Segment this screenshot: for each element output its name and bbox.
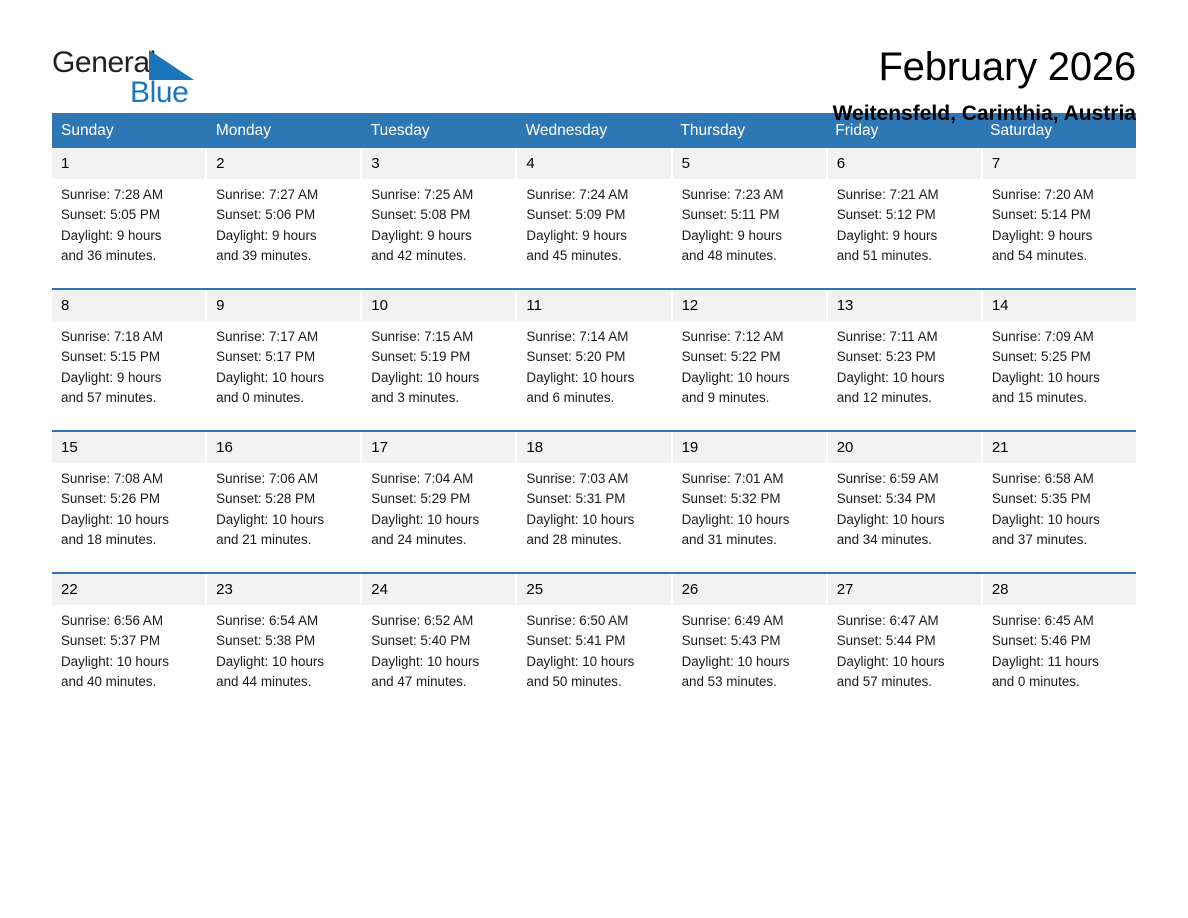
day-details: Sunrise: 6:59 AM Sunset: 5:34 PM Dayligh… bbox=[828, 463, 981, 551]
sunset-text: Sunset: 5:11 PM bbox=[682, 205, 818, 225]
day-number: 1 bbox=[52, 148, 205, 179]
sunset-text: Sunset: 5:40 PM bbox=[371, 631, 507, 651]
daylight-text-line2: and 57 minutes. bbox=[837, 672, 973, 692]
day-number: 21 bbox=[983, 432, 1136, 463]
sunrise-text: Sunrise: 7:23 AM bbox=[682, 185, 818, 205]
sunset-text: Sunset: 5:09 PM bbox=[526, 205, 662, 225]
day-details: Sunrise: 7:15 AM Sunset: 5:19 PM Dayligh… bbox=[362, 321, 515, 409]
day-number: 17 bbox=[362, 432, 515, 463]
day-cell[interactable]: 15 Sunrise: 7:08 AM Sunset: 5:26 PM Dayl… bbox=[52, 432, 205, 556]
day-cell[interactable]: 14 Sunrise: 7:09 AM Sunset: 5:25 PM Dayl… bbox=[983, 290, 1136, 414]
daylight-text-line1: Daylight: 9 hours bbox=[216, 226, 352, 246]
daylight-text-line1: Daylight: 9 hours bbox=[992, 226, 1128, 246]
day-number: 6 bbox=[828, 148, 981, 179]
day-details: Sunrise: 7:14 AM Sunset: 5:20 PM Dayligh… bbox=[517, 321, 670, 409]
day-cell[interactable]: 17 Sunrise: 7:04 AM Sunset: 5:29 PM Dayl… bbox=[362, 432, 515, 556]
day-cell[interactable]: 18 Sunrise: 7:03 AM Sunset: 5:31 PM Dayl… bbox=[517, 432, 670, 556]
day-cell[interactable]: 3 Sunrise: 7:25 AM Sunset: 5:08 PM Dayli… bbox=[362, 148, 515, 272]
sunset-text: Sunset: 5:15 PM bbox=[61, 347, 197, 367]
day-number: 3 bbox=[362, 148, 515, 179]
day-details: Sunrise: 6:56 AM Sunset: 5:37 PM Dayligh… bbox=[52, 605, 205, 693]
daylight-text-line2: and 50 minutes. bbox=[526, 672, 662, 692]
sunset-text: Sunset: 5:29 PM bbox=[371, 489, 507, 509]
day-details: Sunrise: 7:06 AM Sunset: 5:28 PM Dayligh… bbox=[207, 463, 360, 551]
day-details: Sunrise: 7:28 AM Sunset: 5:05 PM Dayligh… bbox=[52, 179, 205, 267]
logo-text-blue: Blue bbox=[130, 78, 188, 108]
day-number: 24 bbox=[362, 574, 515, 605]
sunset-text: Sunset: 5:17 PM bbox=[216, 347, 352, 367]
sunrise-text: Sunrise: 7:25 AM bbox=[371, 185, 507, 205]
sunset-text: Sunset: 5:12 PM bbox=[837, 205, 973, 225]
sunset-text: Sunset: 5:31 PM bbox=[526, 489, 662, 509]
sunset-text: Sunset: 5:37 PM bbox=[61, 631, 197, 651]
daylight-text-line2: and 6 minutes. bbox=[526, 388, 662, 408]
day-number: 18 bbox=[517, 432, 670, 463]
daylight-text-line2: and 53 minutes. bbox=[682, 672, 818, 692]
day-number: 15 bbox=[52, 432, 205, 463]
daylight-text-line2: and 0 minutes. bbox=[216, 388, 352, 408]
day-cell[interactable]: 6 Sunrise: 7:21 AM Sunset: 5:12 PM Dayli… bbox=[828, 148, 981, 272]
day-cell[interactable]: 8 Sunrise: 7:18 AM Sunset: 5:15 PM Dayli… bbox=[52, 290, 205, 414]
daylight-text-line2: and 42 minutes. bbox=[371, 246, 507, 266]
sunrise-text: Sunrise: 7:20 AM bbox=[992, 185, 1128, 205]
day-details: Sunrise: 7:23 AM Sunset: 5:11 PM Dayligh… bbox=[673, 179, 826, 267]
sunset-text: Sunset: 5:20 PM bbox=[526, 347, 662, 367]
day-number: 13 bbox=[828, 290, 981, 321]
sunset-text: Sunset: 5:43 PM bbox=[682, 631, 818, 651]
day-cell[interactable]: 24 Sunrise: 6:52 AM Sunset: 5:40 PM Dayl… bbox=[362, 574, 515, 698]
sunrise-text: Sunrise: 7:15 AM bbox=[371, 327, 507, 347]
day-cell[interactable]: 19 Sunrise: 7:01 AM Sunset: 5:32 PM Dayl… bbox=[673, 432, 826, 556]
sunrise-text: Sunrise: 7:28 AM bbox=[61, 185, 197, 205]
day-details: Sunrise: 6:58 AM Sunset: 5:35 PM Dayligh… bbox=[983, 463, 1136, 551]
sunset-text: Sunset: 5:46 PM bbox=[992, 631, 1128, 651]
daylight-text-line2: and 34 minutes. bbox=[837, 530, 973, 550]
sunset-text: Sunset: 5:23 PM bbox=[837, 347, 973, 367]
page-title: February 2026 bbox=[202, 46, 1136, 88]
sunset-text: Sunset: 5:26 PM bbox=[61, 489, 197, 509]
day-cell[interactable]: 28 Sunrise: 6:45 AM Sunset: 5:46 PM Dayl… bbox=[983, 574, 1136, 698]
weekday-header-friday: Friday bbox=[826, 113, 981, 148]
day-details: Sunrise: 6:50 AM Sunset: 5:41 PM Dayligh… bbox=[517, 605, 670, 693]
sunrise-text: Sunrise: 7:11 AM bbox=[837, 327, 973, 347]
day-details: Sunrise: 6:45 AM Sunset: 5:46 PM Dayligh… bbox=[983, 605, 1136, 693]
day-details: Sunrise: 6:47 AM Sunset: 5:44 PM Dayligh… bbox=[828, 605, 981, 693]
daylight-text-line2: and 31 minutes. bbox=[682, 530, 818, 550]
daylight-text-line2: and 21 minutes. bbox=[216, 530, 352, 550]
day-cell[interactable]: 22 Sunrise: 6:56 AM Sunset: 5:37 PM Dayl… bbox=[52, 574, 205, 698]
day-number: 14 bbox=[983, 290, 1136, 321]
day-cell[interactable]: 27 Sunrise: 6:47 AM Sunset: 5:44 PM Dayl… bbox=[828, 574, 981, 698]
sunrise-text: Sunrise: 7:09 AM bbox=[992, 327, 1128, 347]
day-number: 19 bbox=[673, 432, 826, 463]
day-number: 11 bbox=[517, 290, 670, 321]
daylight-text-line2: and 24 minutes. bbox=[371, 530, 507, 550]
daylight-text-line2: and 28 minutes. bbox=[526, 530, 662, 550]
daylight-text-line1: Daylight: 11 hours bbox=[992, 652, 1128, 672]
day-number: 9 bbox=[207, 290, 360, 321]
daylight-text-line2: and 47 minutes. bbox=[371, 672, 507, 692]
weekday-header-row: Sunday Monday Tuesday Wednesday Thursday… bbox=[52, 113, 1136, 148]
generalblue-logo[interactable]: General Blue bbox=[52, 46, 202, 116]
day-details: Sunrise: 7:03 AM Sunset: 5:31 PM Dayligh… bbox=[517, 463, 670, 551]
sunrise-text: Sunrise: 6:58 AM bbox=[992, 469, 1128, 489]
daylight-text-line1: Daylight: 10 hours bbox=[61, 652, 197, 672]
sunrise-text: Sunrise: 7:21 AM bbox=[837, 185, 973, 205]
day-cell[interactable]: 23 Sunrise: 6:54 AM Sunset: 5:38 PM Dayl… bbox=[207, 574, 360, 698]
day-cell[interactable]: 20 Sunrise: 6:59 AM Sunset: 5:34 PM Dayl… bbox=[828, 432, 981, 556]
day-cell[interactable]: 4 Sunrise: 7:24 AM Sunset: 5:09 PM Dayli… bbox=[517, 148, 670, 272]
weekday-header-thursday: Thursday bbox=[671, 113, 826, 148]
week-row: 8 Sunrise: 7:18 AM Sunset: 5:15 PM Dayli… bbox=[52, 288, 1136, 414]
day-number: 2 bbox=[207, 148, 360, 179]
day-details: Sunrise: 7:01 AM Sunset: 5:32 PM Dayligh… bbox=[673, 463, 826, 551]
sunset-text: Sunset: 5:14 PM bbox=[992, 205, 1128, 225]
day-cell[interactable]: 21 Sunrise: 6:58 AM Sunset: 5:35 PM Dayl… bbox=[983, 432, 1136, 556]
sunset-text: Sunset: 5:19 PM bbox=[371, 347, 507, 367]
sunrise-text: Sunrise: 6:59 AM bbox=[837, 469, 973, 489]
daylight-text-line1: Daylight: 10 hours bbox=[371, 368, 507, 388]
day-details: Sunrise: 7:20 AM Sunset: 5:14 PM Dayligh… bbox=[983, 179, 1136, 267]
daylight-text-line1: Daylight: 10 hours bbox=[216, 510, 352, 530]
daylight-text-line1: Daylight: 10 hours bbox=[682, 510, 818, 530]
daylight-text-line2: and 39 minutes. bbox=[216, 246, 352, 266]
day-details: Sunrise: 6:52 AM Sunset: 5:40 PM Dayligh… bbox=[362, 605, 515, 693]
sunrise-text: Sunrise: 6:45 AM bbox=[992, 611, 1128, 631]
day-details: Sunrise: 6:49 AM Sunset: 5:43 PM Dayligh… bbox=[673, 605, 826, 693]
day-cell[interactable]: 1 Sunrise: 7:28 AM Sunset: 5:05 PM Dayli… bbox=[52, 148, 205, 272]
sunrise-text: Sunrise: 6:50 AM bbox=[526, 611, 662, 631]
sunrise-text: Sunrise: 7:17 AM bbox=[216, 327, 352, 347]
day-details: Sunrise: 7:12 AM Sunset: 5:22 PM Dayligh… bbox=[673, 321, 826, 409]
daylight-text-line2: and 57 minutes. bbox=[61, 388, 197, 408]
weekday-header-monday: Monday bbox=[207, 113, 362, 148]
day-cell[interactable]: 11 Sunrise: 7:14 AM Sunset: 5:20 PM Dayl… bbox=[517, 290, 670, 414]
sunrise-text: Sunrise: 7:08 AM bbox=[61, 469, 197, 489]
daylight-text-line2: and 9 minutes. bbox=[682, 388, 818, 408]
day-number: 20 bbox=[828, 432, 981, 463]
sunset-text: Sunset: 5:22 PM bbox=[682, 347, 818, 367]
daylight-text-line2: and 45 minutes. bbox=[526, 246, 662, 266]
daylight-text-line1: Daylight: 10 hours bbox=[837, 652, 973, 672]
daylight-text-line2: and 54 minutes. bbox=[992, 246, 1128, 266]
sunset-text: Sunset: 5:28 PM bbox=[216, 489, 352, 509]
daylight-text-line1: Daylight: 9 hours bbox=[61, 226, 197, 246]
day-cell[interactable]: 13 Sunrise: 7:11 AM Sunset: 5:23 PM Dayl… bbox=[828, 290, 981, 414]
sunset-text: Sunset: 5:44 PM bbox=[837, 631, 973, 651]
daylight-text-line2: and 15 minutes. bbox=[992, 388, 1128, 408]
day-cell[interactable]: 9 Sunrise: 7:17 AM Sunset: 5:17 PM Dayli… bbox=[207, 290, 360, 414]
daylight-text-line1: Daylight: 9 hours bbox=[682, 226, 818, 246]
day-number: 28 bbox=[983, 574, 1136, 605]
weekday-header-saturday: Saturday bbox=[981, 113, 1136, 148]
daylight-text-line1: Daylight: 10 hours bbox=[216, 368, 352, 388]
day-details: Sunrise: 7:17 AM Sunset: 5:17 PM Dayligh… bbox=[207, 321, 360, 409]
day-cell[interactable]: 10 Sunrise: 7:15 AM Sunset: 5:19 PM Dayl… bbox=[362, 290, 515, 414]
daylight-text-line1: Daylight: 10 hours bbox=[992, 510, 1128, 530]
daylight-text-line2: and 12 minutes. bbox=[837, 388, 973, 408]
week-row: 15 Sunrise: 7:08 AM Sunset: 5:26 PM Dayl… bbox=[52, 430, 1136, 556]
daylight-text-line1: Daylight: 10 hours bbox=[216, 652, 352, 672]
page-header: General Blue February 2026 Weitensfeld, … bbox=[52, 0, 1136, 92]
sunrise-text: Sunrise: 7:24 AM bbox=[526, 185, 662, 205]
daylight-text-line1: Daylight: 10 hours bbox=[371, 510, 507, 530]
day-details: Sunrise: 7:25 AM Sunset: 5:08 PM Dayligh… bbox=[362, 179, 515, 267]
week-row: 1 Sunrise: 7:28 AM Sunset: 5:05 PM Dayli… bbox=[52, 148, 1136, 272]
day-number: 22 bbox=[52, 574, 205, 605]
weekday-header-sunday: Sunday bbox=[52, 113, 207, 148]
sunset-text: Sunset: 5:08 PM bbox=[371, 205, 507, 225]
day-number: 7 bbox=[983, 148, 1136, 179]
day-details: Sunrise: 6:54 AM Sunset: 5:38 PM Dayligh… bbox=[207, 605, 360, 693]
day-cell[interactable]: 2 Sunrise: 7:27 AM Sunset: 5:06 PM Dayli… bbox=[207, 148, 360, 272]
sunset-text: Sunset: 5:05 PM bbox=[61, 205, 197, 225]
sunrise-text: Sunrise: 7:18 AM bbox=[61, 327, 197, 347]
day-number: 8 bbox=[52, 290, 205, 321]
daylight-text-line2: and 18 minutes. bbox=[61, 530, 197, 550]
sunrise-text: Sunrise: 7:06 AM bbox=[216, 469, 352, 489]
sunset-text: Sunset: 5:32 PM bbox=[682, 489, 818, 509]
day-details: Sunrise: 7:08 AM Sunset: 5:26 PM Dayligh… bbox=[52, 463, 205, 551]
sunrise-text: Sunrise: 7:04 AM bbox=[371, 469, 507, 489]
daylight-text-line1: Daylight: 9 hours bbox=[837, 226, 973, 246]
day-cell[interactable]: 12 Sunrise: 7:12 AM Sunset: 5:22 PM Dayl… bbox=[673, 290, 826, 414]
daylight-text-line2: and 48 minutes. bbox=[682, 246, 818, 266]
sunrise-text: Sunrise: 6:54 AM bbox=[216, 611, 352, 631]
daylight-text-line1: Daylight: 10 hours bbox=[61, 510, 197, 530]
daylight-text-line2: and 40 minutes. bbox=[61, 672, 197, 692]
daylight-text-line2: and 37 minutes. bbox=[992, 530, 1128, 550]
sunset-text: Sunset: 5:38 PM bbox=[216, 631, 352, 651]
weekday-header-wednesday: Wednesday bbox=[517, 113, 672, 148]
daylight-text-line2: and 36 minutes. bbox=[61, 246, 197, 266]
sunrise-text: Sunrise: 7:14 AM bbox=[526, 327, 662, 347]
day-number: 4 bbox=[517, 148, 670, 179]
day-details: Sunrise: 7:18 AM Sunset: 5:15 PM Dayligh… bbox=[52, 321, 205, 409]
daylight-text-line1: Daylight: 10 hours bbox=[526, 368, 662, 388]
day-number: 16 bbox=[207, 432, 360, 463]
day-number: 12 bbox=[673, 290, 826, 321]
daylight-text-line1: Daylight: 10 hours bbox=[837, 510, 973, 530]
day-details: Sunrise: 7:27 AM Sunset: 5:06 PM Dayligh… bbox=[207, 179, 360, 267]
day-cell[interactable]: 25 Sunrise: 6:50 AM Sunset: 5:41 PM Dayl… bbox=[517, 574, 670, 698]
daylight-text-line1: Daylight: 10 hours bbox=[992, 368, 1128, 388]
sunset-text: Sunset: 5:06 PM bbox=[216, 205, 352, 225]
sunset-text: Sunset: 5:35 PM bbox=[992, 489, 1128, 509]
day-details: Sunrise: 7:09 AM Sunset: 5:25 PM Dayligh… bbox=[983, 321, 1136, 409]
daylight-text-line1: Daylight: 9 hours bbox=[526, 226, 662, 246]
sunrise-text: Sunrise: 6:52 AM bbox=[371, 611, 507, 631]
daylight-text-line1: Daylight: 10 hours bbox=[526, 510, 662, 530]
daylight-text-line1: Daylight: 10 hours bbox=[526, 652, 662, 672]
calendar-grid: Sunday Monday Tuesday Wednesday Thursday… bbox=[52, 113, 1136, 698]
day-details: Sunrise: 7:21 AM Sunset: 5:12 PM Dayligh… bbox=[828, 179, 981, 267]
sunrise-text: Sunrise: 7:12 AM bbox=[682, 327, 818, 347]
daylight-text-line1: Daylight: 9 hours bbox=[371, 226, 507, 246]
week-row: 22 Sunrise: 6:56 AM Sunset: 5:37 PM Dayl… bbox=[52, 572, 1136, 698]
sunrise-text: Sunrise: 6:56 AM bbox=[61, 611, 197, 631]
day-details: Sunrise: 7:11 AM Sunset: 5:23 PM Dayligh… bbox=[828, 321, 981, 409]
sunrise-text: Sunrise: 7:01 AM bbox=[682, 469, 818, 489]
day-number: 23 bbox=[207, 574, 360, 605]
day-number: 5 bbox=[673, 148, 826, 179]
daylight-text-line1: Daylight: 9 hours bbox=[61, 368, 197, 388]
daylight-text-line2: and 3 minutes. bbox=[371, 388, 507, 408]
day-details: Sunrise: 7:04 AM Sunset: 5:29 PM Dayligh… bbox=[362, 463, 515, 551]
daylight-text-line1: Daylight: 10 hours bbox=[371, 652, 507, 672]
sunrise-text: Sunrise: 7:27 AM bbox=[216, 185, 352, 205]
day-cell[interactable]: 7 Sunrise: 7:20 AM Sunset: 5:14 PM Dayli… bbox=[983, 148, 1136, 272]
daylight-text-line2: and 44 minutes. bbox=[216, 672, 352, 692]
day-number: 26 bbox=[673, 574, 826, 605]
day-number: 10 bbox=[362, 290, 515, 321]
daylight-text-line1: Daylight: 10 hours bbox=[682, 652, 818, 672]
day-cell[interactable]: 26 Sunrise: 6:49 AM Sunset: 5:43 PM Dayl… bbox=[673, 574, 826, 698]
sunrise-text: Sunrise: 7:03 AM bbox=[526, 469, 662, 489]
weekday-header-tuesday: Tuesday bbox=[362, 113, 517, 148]
day-cell[interactable]: 16 Sunrise: 7:06 AM Sunset: 5:28 PM Dayl… bbox=[207, 432, 360, 556]
daylight-text-line2: and 0 minutes. bbox=[992, 672, 1128, 692]
logo-text-general: General bbox=[52, 48, 156, 78]
sunset-text: Sunset: 5:41 PM bbox=[526, 631, 662, 651]
calendar-page: General Blue February 2026 Weitensfeld, … bbox=[0, 0, 1188, 918]
day-details: Sunrise: 7:24 AM Sunset: 5:09 PM Dayligh… bbox=[517, 179, 670, 267]
sunrise-text: Sunrise: 6:47 AM bbox=[837, 611, 973, 631]
day-cell[interactable]: 5 Sunrise: 7:23 AM Sunset: 5:11 PM Dayli… bbox=[673, 148, 826, 272]
day-number: 25 bbox=[517, 574, 670, 605]
sunset-text: Sunset: 5:34 PM bbox=[837, 489, 973, 509]
daylight-text-line2: and 51 minutes. bbox=[837, 246, 973, 266]
sunrise-text: Sunrise: 6:49 AM bbox=[682, 611, 818, 631]
day-number: 27 bbox=[828, 574, 981, 605]
sunset-text: Sunset: 5:25 PM bbox=[992, 347, 1128, 367]
daylight-text-line1: Daylight: 10 hours bbox=[837, 368, 973, 388]
daylight-text-line1: Daylight: 10 hours bbox=[682, 368, 818, 388]
